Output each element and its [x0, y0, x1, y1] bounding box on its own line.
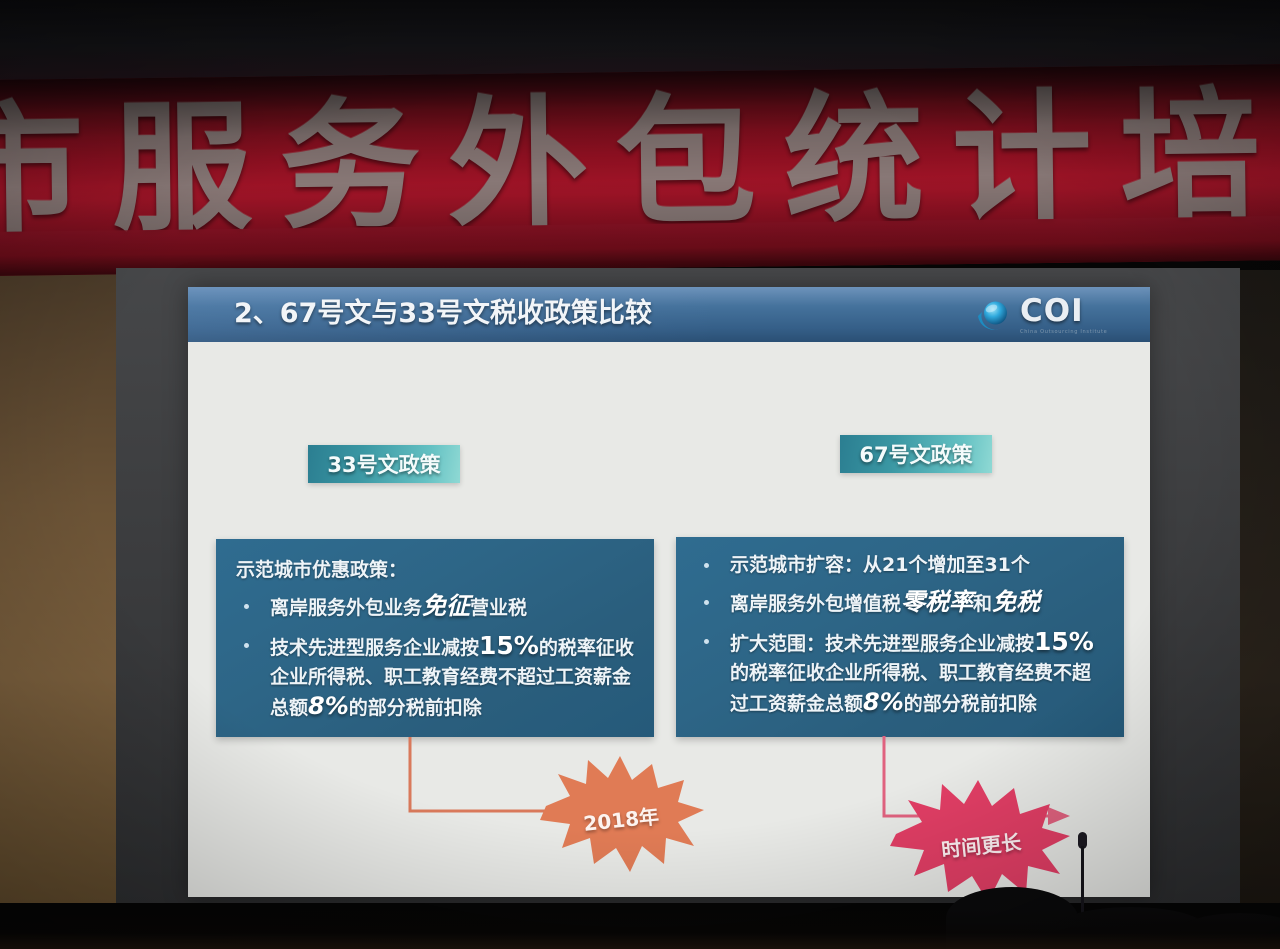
red-event-banner: 市服务外包统计培 [0, 64, 1280, 276]
emphasis-run: 免征 [422, 592, 470, 620]
slide-title: 2、67号文与33号文税收政策比较 [234, 296, 652, 332]
coi-logo-subtitle: China Outsourcing Institute [1020, 330, 1107, 335]
text-run: 离岸服务外包增值税 [730, 593, 901, 615]
bullet-item: 离岸服务外包业务免征营业税 [230, 592, 638, 623]
badge-policy-67: 67号文政策 [840, 435, 992, 473]
callout-2018: 2018年 [536, 754, 706, 882]
policy-box-67-bullets: 示范城市扩容：从21个增加至31个 离岸服务外包增值税零税率和免税 扩大范围：技… [690, 551, 1108, 719]
coi-wordmark: COI [1020, 296, 1107, 327]
coi-logo: COI China Outsourcing Institute [976, 292, 1136, 338]
callout-longer-duration: 时间更长 [888, 778, 1074, 897]
text-run: 的部分税前扣除 [904, 693, 1037, 715]
bullet-item: 技术先进型服务企业减按15%的税率征收企业所得税、职工教育经费不超过工资薪金总额… [230, 631, 638, 723]
text-run: 示范城市扩容：从21个增加至31个 [730, 554, 1030, 576]
conference-photo-scene: 市服务外包统计培 2、67号文与33号文税收政策比较 [0, 0, 1280, 949]
emphasis-run: 8% [308, 692, 349, 720]
policy-box-33: 示范城市优惠政策： 离岸服务外包业务免征营业税 技术先进型服务企业减按15%的税… [216, 539, 654, 737]
policy-box-67: 示范城市扩容：从21个增加至31个 离岸服务外包增值税零税率和免税 扩大范围：技… [676, 537, 1124, 737]
text-run: 扩大范围：技术先进型服务企业减按 [730, 633, 1034, 655]
emphasis-run: 8% [863, 688, 904, 716]
presentation-slide: 2、67号文与33号文税收政策比较 [188, 287, 1150, 897]
slide-title-bar: 2、67号文与33号文税收政策比较 [188, 287, 1150, 342]
bullet-item: 扩大范围：技术先进型服务企业减按15%的税率征收企业所得税、职工教育经费不超过工… [690, 627, 1108, 719]
text-run: 的部分税前扣除 [349, 697, 482, 719]
text-run: 营业税 [470, 597, 527, 619]
projection-screen-frame: 2、67号文与33号文税收政策比较 [116, 268, 1240, 908]
badge-policy-33: 33号文政策 [308, 445, 460, 483]
policy-box-33-heading: 示范城市优惠政策： [236, 555, 638, 582]
emphasis-run: 免税 [992, 588, 1040, 616]
room-wall-right [1240, 270, 1280, 949]
bullet-item: 示范城市扩容：从21个增加至31个 [690, 551, 1108, 580]
emphasis-run: 15% [479, 631, 539, 660]
policy-box-33-bullets: 离岸服务外包业务免征营业税 技术先进型服务企业减按15%的税率征收企业所得税、职… [230, 592, 638, 723]
emphasis-run: 15% [1034, 627, 1094, 656]
emphasis-run: 零税率 [901, 588, 973, 616]
text-run: 和 [973, 593, 992, 615]
foreground-blur [0, 909, 1280, 949]
room-wall-left [0, 270, 116, 949]
bullet-item: 离岸服务外包增值税零税率和免税 [690, 588, 1108, 619]
text-run: 离岸服务外包业务 [270, 597, 422, 619]
slide-body: 33号文政策 67号文政策 示范城市优惠政策： 离岸服务外包业务免征营业税 技术… [188, 342, 1150, 897]
coi-globe-swirl-icon [976, 297, 1012, 333]
coi-wordmark-group: COI China Outsourcing Institute [1020, 296, 1107, 335]
text-run: 技术先进型服务企业减按 [270, 637, 479, 659]
